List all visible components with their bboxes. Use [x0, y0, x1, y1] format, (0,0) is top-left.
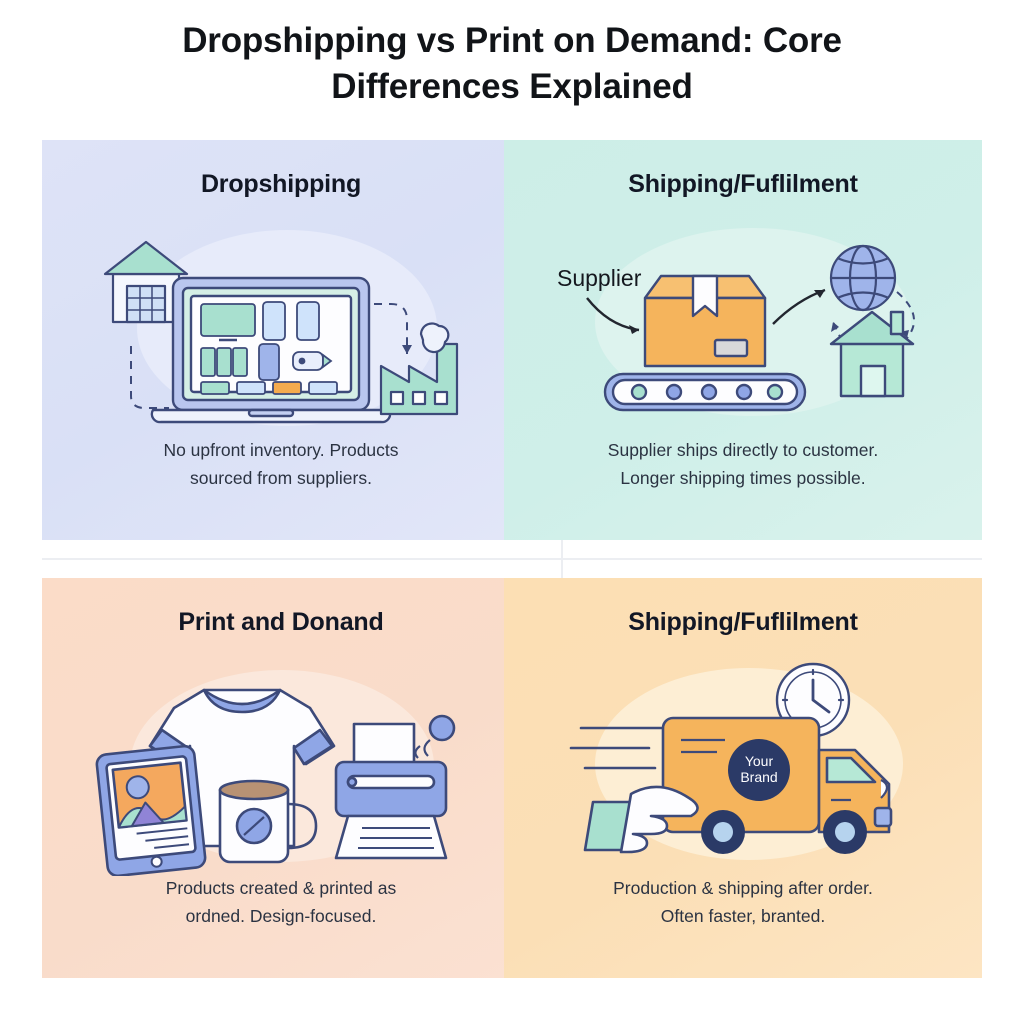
caption-line-2: ordned. Design-focused.	[70, 903, 492, 930]
page-title: Dropshipping vs Print on Demand: Core Di…	[0, 18, 1024, 110]
illustration-tablet-tshirt-mug-printer	[42, 654, 520, 884]
panel-dropshipping[interactable]: Dropshipping	[42, 140, 520, 540]
horizontal-divider	[42, 558, 982, 560]
infographic-page: Dropshipping vs Print on Demand: Core Di…	[0, 0, 1024, 1024]
panel-caption: Production & shipping after order. Often…	[532, 875, 954, 930]
caption-line-2: Longer shipping times possible.	[532, 465, 954, 492]
caption-line-2: sourced from suppliers.	[70, 465, 492, 492]
panel-shipping-fulfilment-bottom[interactable]: Shipping/Fuflilment	[504, 578, 982, 978]
caption-line-2: Often faster, branted.	[532, 903, 954, 930]
caption-line-1: Products created & printed as	[166, 878, 397, 898]
illustration-warehouse-laptop-factory	[42, 216, 520, 446]
illustration-conveyor-box-globe-house: Supplier	[504, 216, 982, 446]
panel-caption: Products created & printed as ordned. De…	[70, 875, 492, 930]
caption-line-1: No upfront inventory. Products	[163, 440, 398, 460]
brand-badge-line-1: Your	[745, 753, 774, 769]
comparison-grid: Dropshipping	[42, 140, 982, 978]
panel-caption: No upfront inventory. Products sourced f…	[70, 437, 492, 492]
supplier-label: Supplier	[557, 265, 642, 291]
title-line-1: Dropshipping vs Print on Demand: Core	[182, 21, 842, 60]
panel-heading: Print and Donand	[42, 608, 520, 637]
panel-heading: Dropshipping	[42, 170, 520, 199]
caption-line-1: Production & shipping after order.	[613, 878, 873, 898]
panel-caption: Supplier ships directly to customer. Lon…	[532, 437, 954, 492]
panel-heading: Shipping/Fuflilment	[504, 170, 982, 199]
illustration-delivery-truck-hand-clock: Your Brand	[504, 654, 982, 884]
title-line-2: Differences Explained	[0, 64, 1024, 110]
brand-badge-line-2: Brand	[740, 769, 777, 785]
panel-shipping-fulfilment-top[interactable]: Shipping/Fuflilment Supplier	[504, 140, 982, 540]
caption-line-1: Supplier ships directly to customer.	[608, 440, 878, 460]
panel-print-on-demand[interactable]: Print and Donand	[42, 578, 520, 978]
panel-heading: Shipping/Fuflilment	[504, 608, 982, 637]
